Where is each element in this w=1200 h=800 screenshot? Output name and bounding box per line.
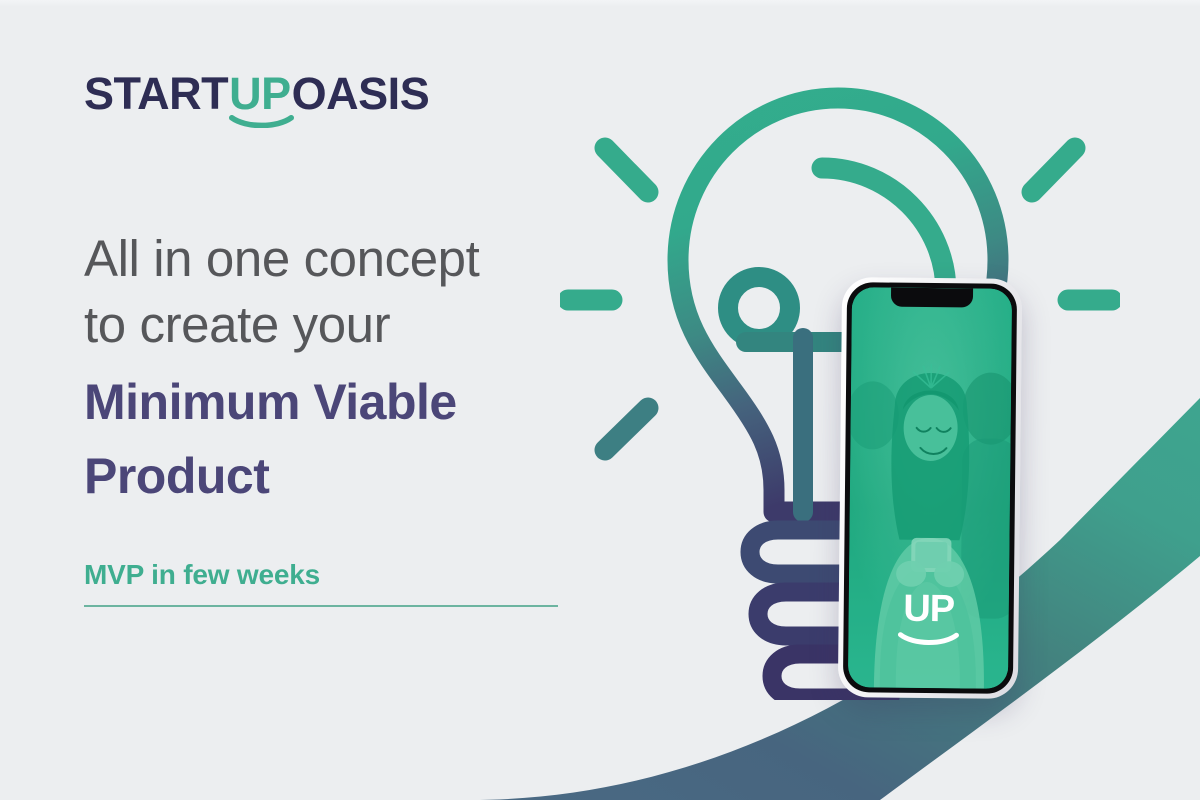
subheadline-text: MVP in few weeks — [84, 559, 584, 591]
logo-text-start: START — [84, 71, 228, 116]
headline-line-1: All in one concept — [84, 226, 584, 292]
ray-top-right-diagonal-icon — [1032, 148, 1075, 192]
screen-smile-arc-icon — [897, 632, 959, 647]
bulb-filament-loop-icon — [728, 277, 790, 339]
logo-text-up: UP — [229, 68, 291, 119]
phone-bezel: UP — [843, 282, 1017, 694]
smartphone-mockup: UP — [838, 277, 1022, 699]
phone-notch — [891, 288, 973, 308]
banner-canvas: START UP OASIS All in one concept to cre… — [0, 0, 1200, 800]
bulb-shine-arc-icon — [822, 168, 946, 292]
headline-line-3: Minimum Viable — [84, 371, 584, 433]
logo-up-group: UP — [228, 71, 292, 116]
screen-up-logo: UP — [848, 589, 1009, 647]
screen-up-text: UP — [903, 590, 954, 629]
headline-line-2: to create your — [84, 292, 584, 358]
headline-line-4: Product — [84, 445, 584, 507]
headline-block: All in one concept to create your Minimu… — [84, 226, 584, 607]
phone-screen[interactable]: UP — [848, 287, 1012, 689]
phone-frame: UP — [838, 277, 1022, 699]
brand-logo[interactable]: START UP OASIS — [84, 62, 429, 124]
brand-logo-wordmark: START UP OASIS — [84, 71, 429, 116]
ray-top-left-diagonal-icon — [605, 148, 648, 192]
logo-smile-arc-icon — [229, 115, 294, 128]
subheadline-divider — [84, 605, 558, 607]
logo-text-oasis: OASIS — [292, 71, 430, 116]
ray-bottom-left-diagonal-icon — [605, 408, 648, 450]
